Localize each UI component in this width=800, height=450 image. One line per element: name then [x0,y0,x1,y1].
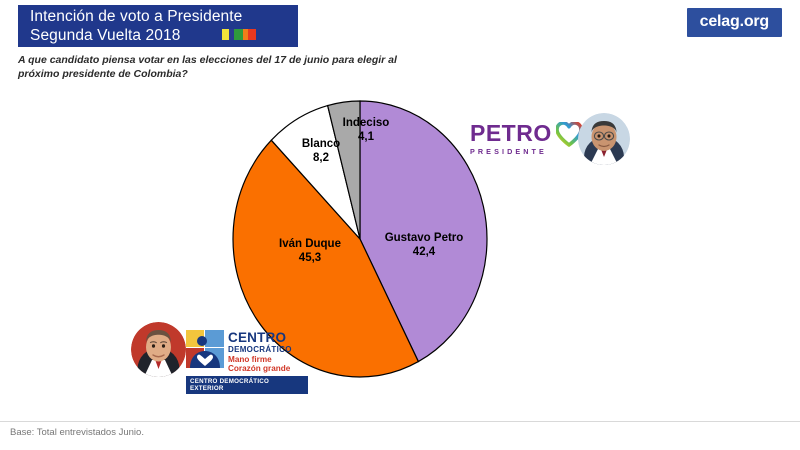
page-title: Intención de voto a Presidente Segunda V… [30,7,242,45]
cd-slogan-line1: Mano firme [228,355,292,365]
cd-logo-line2: DEMOCRÁTICO [228,345,292,354]
celag-brand-logo[interactable]: celag.org [687,8,782,37]
centro-democratico-mark-icon [186,330,224,368]
petro-logo-word: PETRO [470,123,552,145]
header-title-bar: Intención de voto a Presidente Segunda V… [18,5,298,47]
survey-question-subtitle: A que candidato piensa votar en las elec… [18,53,408,81]
cd-slogan-line2: Corazón grande [228,364,292,374]
duque-portrait-photo [131,322,186,377]
petro-campaign-logo: PETRO PRESIDENTE [470,123,582,156]
cd-logo-banner: CENTRO DEMOCRÁTICO EXTERIOR [186,376,308,394]
colombia-flag-icon [222,29,256,40]
footer-base-note: Base: Total entrevistados Junio. [10,427,144,438]
petro-portrait-photo [578,113,630,165]
footer-divider [0,421,800,422]
centro-democratico-logo: CENTRO DEMOCRÁTICO Mano firme Corazón gr… [186,330,308,380]
celag-logo-text: celag.org [700,13,769,30]
petro-logo-subtitle: PRESIDENTE [470,147,552,156]
cd-logo-line1: CENTRO [228,331,292,345]
